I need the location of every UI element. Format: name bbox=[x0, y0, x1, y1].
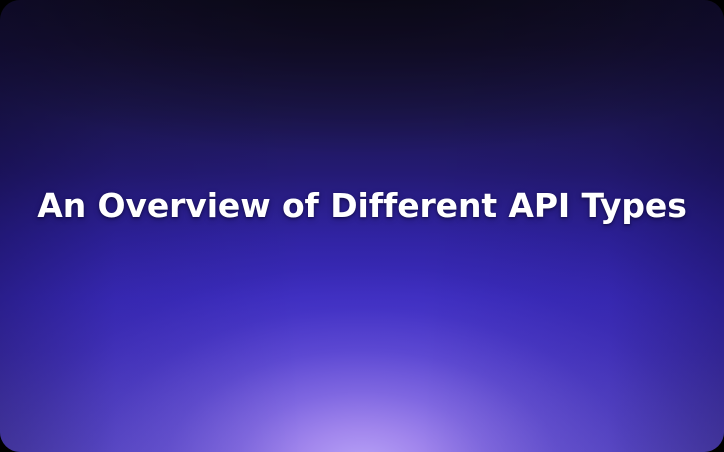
title-container: An Overview of Different API Types bbox=[0, 186, 724, 226]
side-vignette-overlay bbox=[0, 0, 724, 452]
top-vignette-overlay bbox=[0, 0, 724, 452]
bottom-radial-glow bbox=[0, 0, 724, 452]
slide-title: An Overview of Different API Types bbox=[37, 186, 687, 226]
slide-frame: An Overview of Different API Types bbox=[0, 0, 724, 452]
slide-background-card: An Overview of Different API Types bbox=[0, 0, 724, 452]
